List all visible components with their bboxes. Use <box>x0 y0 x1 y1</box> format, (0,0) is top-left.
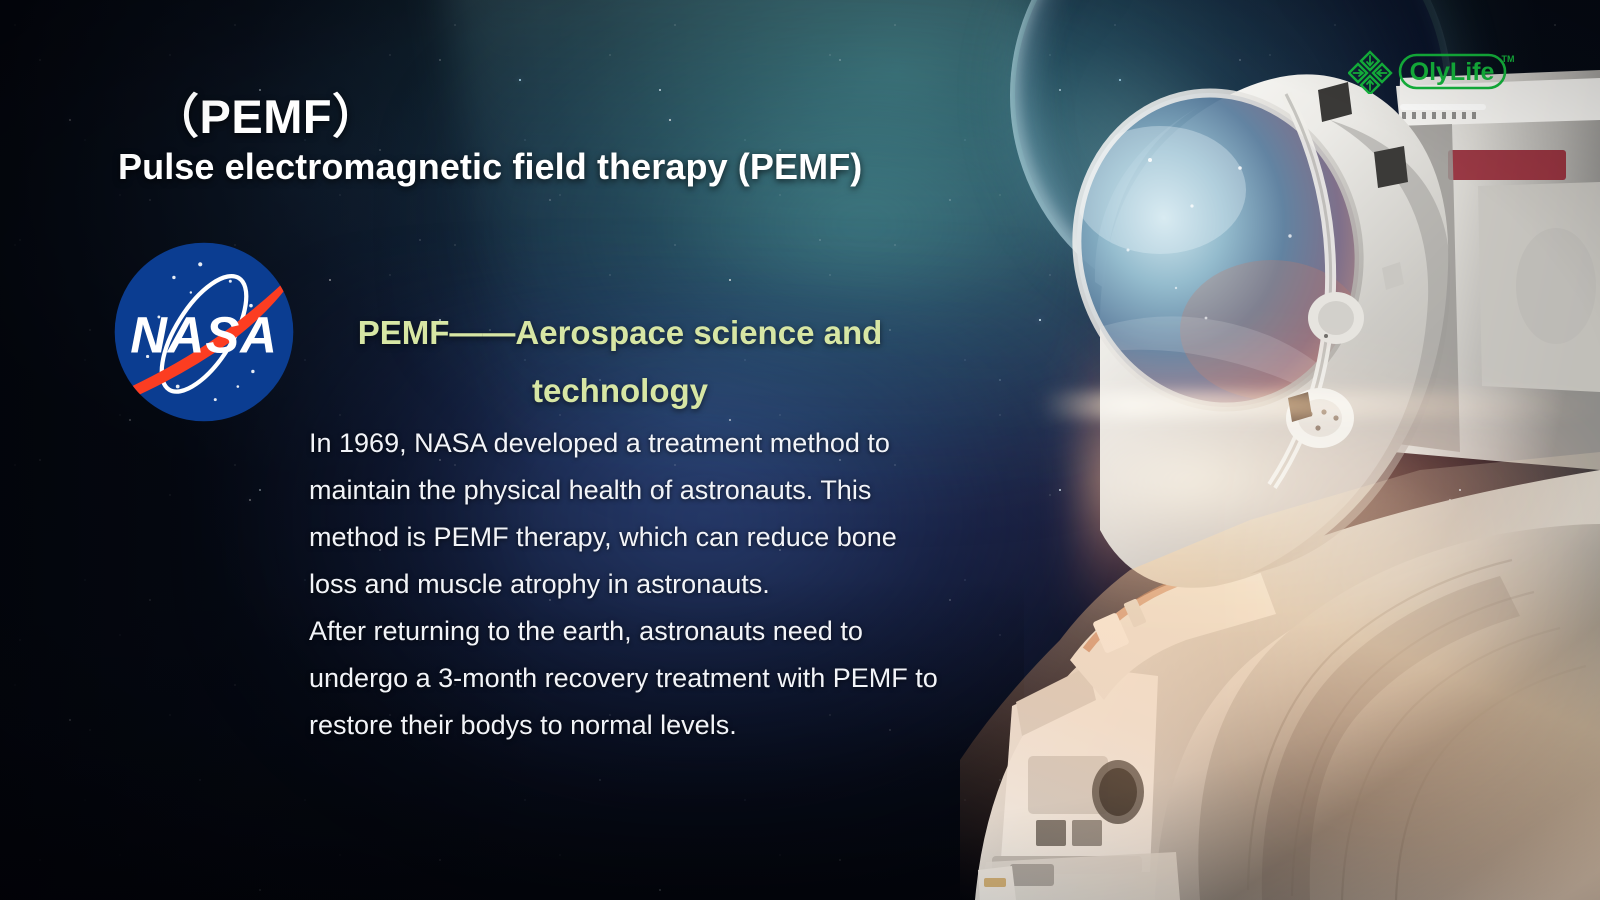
pemf-slide: （PEMF） Pulse electromagnetic field thera… <box>0 0 1600 900</box>
vignette-overlay <box>0 0 1600 900</box>
